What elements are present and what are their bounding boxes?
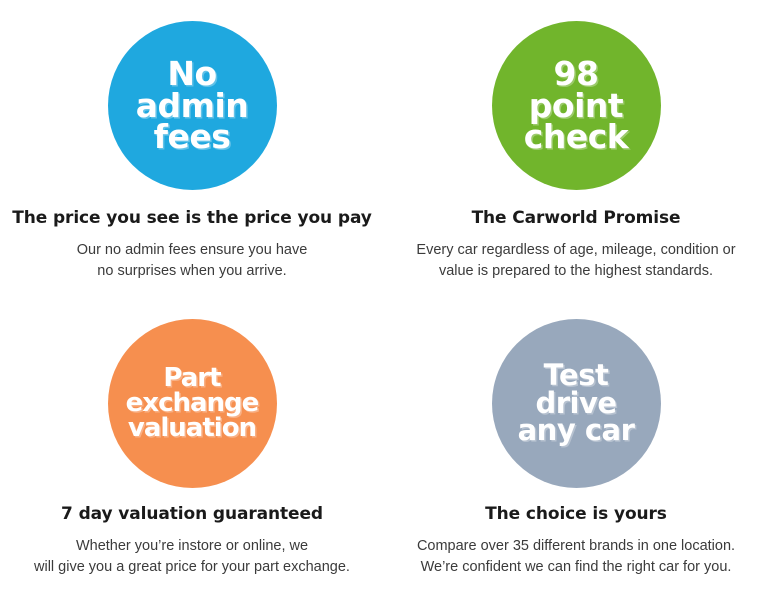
panel-heading: The choice is yours bbox=[485, 504, 667, 524]
panel-heading: The price you see is the price you pay bbox=[12, 208, 372, 228]
badge-label: 98 point check bbox=[520, 58, 632, 152]
panel-heading: The Carworld Promise bbox=[472, 208, 681, 228]
badge-label: Test drive any car bbox=[514, 362, 639, 445]
panel-body-text: Our no admin fees ensure you have no sur… bbox=[77, 240, 308, 281]
panel-body-text: Compare over 35 different brands in one … bbox=[384, 536, 768, 577]
feature-panels-grid: No admin fees The price you see is the p… bbox=[0, 0, 768, 614]
badge-circle-part-exchange-valuation: Part exchange valuation bbox=[108, 319, 277, 488]
panel-body-text: Whether you’re instore or online, we wil… bbox=[2, 536, 382, 577]
badge-circle-98-point-check: 98 point check bbox=[492, 21, 661, 190]
panel-heading: 7 day valuation guaranteed bbox=[61, 504, 323, 524]
panel-body-text: Every car regardless of age, mileage, co… bbox=[416, 240, 735, 281]
badge-circle-no-admin-fees: No admin fees bbox=[108, 21, 277, 190]
feature-panel-part-exchange-valuation: Part exchange valuation 7 day valuation … bbox=[0, 307, 384, 614]
feature-panel-no-admin-fees: No admin fees The price you see is the p… bbox=[0, 0, 384, 307]
badge-label: Part exchange valuation bbox=[122, 366, 263, 440]
feature-panel-test-drive-any-car: Test drive any car The choice is yours C… bbox=[384, 307, 768, 614]
badge-label: No admin fees bbox=[132, 58, 253, 152]
feature-panel-98-point-check: 98 point check The Carworld Promise Ever… bbox=[384, 0, 768, 307]
badge-circle-test-drive-any-car: Test drive any car bbox=[492, 319, 661, 488]
